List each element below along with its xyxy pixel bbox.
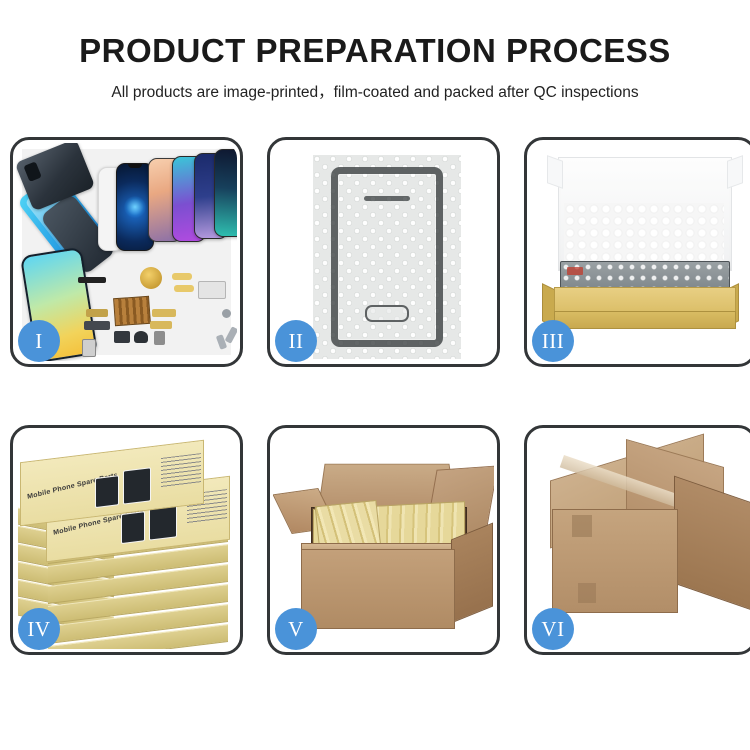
part-button-icon xyxy=(134,331,148,343)
step-panel-4: Mobile Phone Spare Parts Mobile Phone Sp… xyxy=(10,425,243,655)
step-panel-5: V xyxy=(267,425,500,655)
carton-front-icon xyxy=(301,549,455,629)
step-badge-4: IV xyxy=(18,608,60,650)
earpiece-slot-icon xyxy=(364,196,410,201)
step-panel-6: VI xyxy=(524,425,750,655)
step-panel-2: II xyxy=(267,137,500,367)
foam-padding-icon xyxy=(564,203,724,263)
part-ribbon-icon xyxy=(86,309,108,317)
page-title: PRODUCT PREPARATION PROCESS xyxy=(0,34,750,69)
part-sim-tray-icon xyxy=(82,339,96,357)
carton-hand-hole-icon xyxy=(572,515,592,537)
step-badge-2: II xyxy=(275,320,317,362)
chip-array-icon xyxy=(113,296,151,326)
step-panel-1: I xyxy=(10,137,243,367)
phone-teal-icon xyxy=(214,149,237,237)
phone-parts-photo xyxy=(22,149,231,355)
part-module-icon xyxy=(84,321,110,330)
bubble-wrap-photo xyxy=(313,155,461,359)
phone-screen-outline-icon xyxy=(331,167,443,347)
box-thumbnail xyxy=(123,467,151,504)
box-thumbnail xyxy=(121,511,145,544)
part-speaker-coil-icon xyxy=(140,267,162,289)
part-ribbon-3-icon xyxy=(150,321,172,329)
part-flex-cable-2-icon xyxy=(174,285,194,292)
part-flex-cable-icon xyxy=(172,273,192,280)
carton-tab-icon xyxy=(578,583,596,603)
part-vibrator-icon xyxy=(154,331,165,345)
carton-side-icon xyxy=(674,476,750,611)
part-tweezer-icon xyxy=(225,326,237,343)
part-battery-icon xyxy=(198,281,226,299)
part-connector-icon xyxy=(78,277,106,283)
step-panel-3: III xyxy=(524,137,750,367)
box-tray-front-icon xyxy=(554,311,736,329)
step-badge-1: I xyxy=(18,320,60,362)
step-badge-6: VI xyxy=(532,608,574,650)
box-thumbnail xyxy=(95,475,119,508)
carton-side-icon xyxy=(451,523,493,624)
home-button-icon xyxy=(365,305,409,322)
box-spec-lines xyxy=(161,453,201,488)
part-ribbon-2-icon xyxy=(152,309,176,317)
step-badge-5: V xyxy=(275,608,317,650)
carton-front-icon xyxy=(552,509,678,613)
process-steps-grid: I II III xyxy=(10,137,740,655)
step-badge-3: III xyxy=(532,320,574,362)
page-subtitle: All products are image-printed，film-coat… xyxy=(0,80,750,102)
page-header: PRODUCT PREPARATION PROCESS All products… xyxy=(0,0,750,102)
part-camera-icon xyxy=(114,331,130,343)
part-screw-icon xyxy=(222,309,231,318)
